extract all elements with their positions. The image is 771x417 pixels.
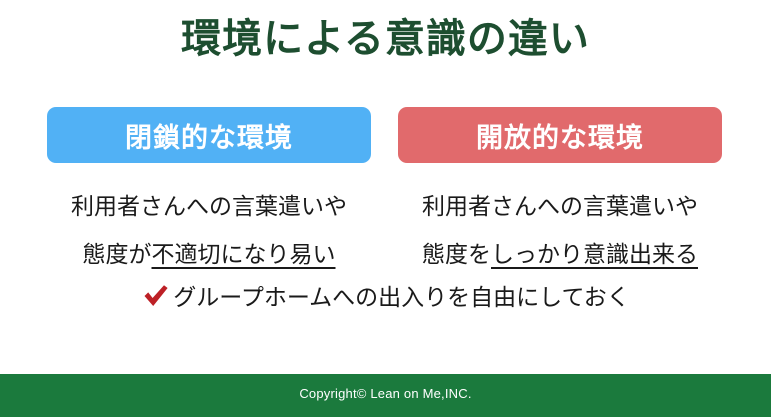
copyright-text: Copyright© Lean on Me,INC. [299, 386, 471, 401]
check-mark-icon [141, 281, 171, 311]
column-body-open-environment: 利用者さんへの言葉遣いや 態度をしっかり意識出来る [398, 182, 722, 278]
check-bullet-text: グループホームへの出入りを自由にしておく [173, 278, 630, 312]
column-header-open-environment: 開放的な環境 [398, 107, 722, 163]
column-body-line-2: 態度をしっかり意識出来る [398, 230, 722, 278]
column-body-line-2-underlined: しっかり意識出来る [491, 241, 698, 267]
page-title: 環境による意識の違い [0, 14, 771, 64]
column-body-line-2-plain: 態度を [422, 241, 491, 267]
footer-bar: Copyright© Lean on Me,INC. [0, 374, 771, 417]
column-header-closed-environment: 閉鎖的な環境 [47, 107, 371, 163]
column-body-line-1: 利用者さんへの言葉遣いや [47, 182, 371, 230]
check-bullet-line: グループホームへの出入りを自由にしておく [0, 278, 771, 312]
column-body-line-2-underlined: 不適切になり易い [152, 241, 336, 267]
column-body-closed-environment: 利用者さんへの言葉遣いや 態度が不適切になり易い [47, 182, 371, 278]
slide-canvas: 環境による意識の違い 閉鎖的な環境 開放的な環境 利用者さんへの言葉遣いや 態度… [0, 0, 771, 417]
column-header-label: 開放的な環境 [476, 116, 644, 155]
column-body-line-1: 利用者さんへの言葉遣いや [398, 182, 722, 230]
column-header-label: 閉鎖的な環境 [125, 116, 293, 155]
column-body-line-2-plain: 態度が [83, 241, 152, 267]
column-body-line-2: 態度が不適切になり易い [47, 230, 371, 278]
